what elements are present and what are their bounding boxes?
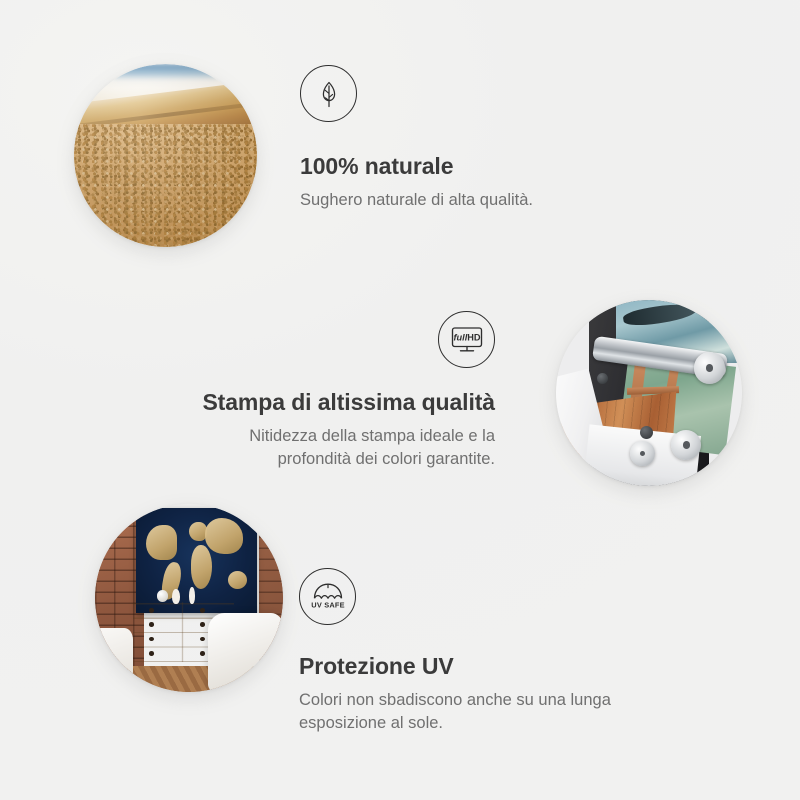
room-photo-armchair-right <box>208 613 283 692</box>
cork-texture-photo <box>74 64 257 247</box>
press-photo-wheel-1 <box>694 352 726 384</box>
feature-uv-description: Colori non sbadiscono anche su una lunga… <box>299 689 659 736</box>
svg-text:fullHD: fullHD <box>453 332 480 342</box>
uv-safe-umbrella-icon: UV SAFE <box>299 568 356 625</box>
room-photo-decor-1 <box>172 589 180 604</box>
feature-natural-title: 100% naturale <box>300 153 533 180</box>
feature-print-title: Stampa di altissima qualità <box>130 389 495 416</box>
map-continent-australia <box>228 571 247 589</box>
map-continent-north-america <box>146 525 177 561</box>
leaf-icon <box>300 65 357 122</box>
room-photo-armchair-left <box>95 628 133 692</box>
feature-highlights-page: 100% naturale Sughero naturale di alta q… <box>0 0 800 800</box>
feature-natural-description: Sughero naturale di alta qualità. <box>300 189 533 212</box>
cork-photo-shading <box>74 64 257 247</box>
feature-natural: 100% naturale Sughero naturale di alta q… <box>300 65 533 212</box>
feature-uv-protection: UV SAFE Protezione UV Colori non sbadisc… <box>299 568 659 736</box>
room-photo-globe-decor <box>157 590 168 601</box>
map-continent-africa <box>191 545 213 589</box>
printing-machine-photo <box>556 300 742 486</box>
press-photo-knob-2 <box>597 373 608 384</box>
press-photo-wheel-2 <box>671 430 701 460</box>
room-worldmap-photo <box>95 504 283 692</box>
uv-safe-label: UV SAFE <box>311 600 344 609</box>
room-photo-world-map-art <box>136 508 256 613</box>
fullhd-monitor-icon: fullHD <box>438 311 495 368</box>
feature-print-quality: fullHD Stampa di altissima qualità Nitid… <box>130 311 495 472</box>
room-photo-decor-2 <box>189 587 195 604</box>
feature-uv-title: Protezione UV <box>299 653 659 680</box>
feature-print-description: Nitidezza della stampa ideale e la profo… <box>195 425 495 472</box>
press-photo-wheel-3 <box>630 441 654 465</box>
map-continent-asia <box>205 518 244 554</box>
